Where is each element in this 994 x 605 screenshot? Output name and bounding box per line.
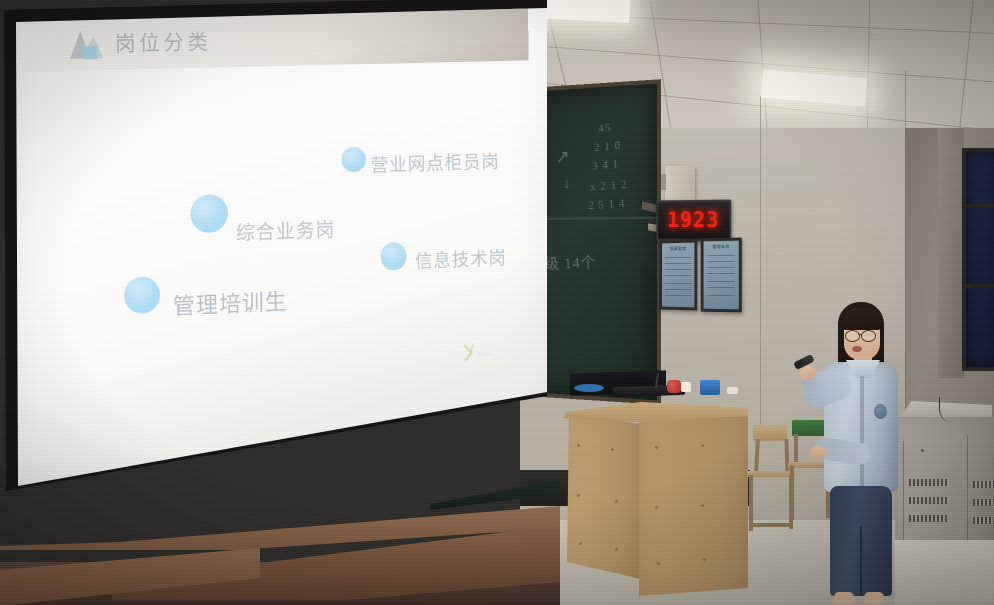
slide-corner-logo-svg: logo [462, 340, 508, 363]
green-chalkboard: 45 2 1 0 3 4 1 x 2 1 2 2 5 1 4 6级 14个 ↗ … [527, 79, 661, 405]
shirt-placket [860, 376, 864, 488]
wall-notice-board-right: 管理条例 [701, 238, 742, 313]
slide-bullet-label-1: 营业网点柜员岗 [370, 147, 499, 177]
classroom-photo-scene: 45 2 1 0 3 4 1 x 2 1 2 2 5 1 4 6级 14个 ↗ … [0, 0, 994, 605]
lectern-front-panel [639, 410, 748, 596]
chalk-note: 2 5 1 4 [588, 197, 626, 212]
chalk-arrow: ↗ [555, 146, 572, 169]
wall-notice-board-left: 规章制度 [659, 239, 697, 310]
chalk-note: 45 [598, 122, 612, 136]
cabinet-cable [939, 397, 962, 423]
led-wall-clock: 1923 [656, 200, 731, 242]
eyeglasses-right-lens [861, 330, 876, 342]
night-window [962, 148, 994, 371]
mountain-logo-svg [64, 24, 110, 65]
left-foot [834, 592, 854, 604]
wall-speaker [665, 166, 695, 204]
chalk-arrow: ↓ [563, 175, 573, 194]
chalk-note: 3 4 1 [592, 158, 620, 173]
eyeglasses-bridge [858, 334, 862, 335]
slide-bullet-label-4: 管理培训生 [172, 283, 287, 321]
small-white-item [727, 387, 738, 394]
clock-time: 1923 [667, 210, 719, 231]
right-foot [864, 592, 884, 604]
mouth [852, 346, 862, 352]
ceiling-light-2 [761, 70, 867, 107]
slide-heading: 岗位分类 [115, 26, 212, 58]
mountain-logo [64, 24, 110, 65]
female-presenter [800, 300, 920, 605]
lectern-side-panel [563, 414, 641, 579]
blue-box [700, 380, 720, 395]
projected-slide: 岗位分类 营业网点柜员岗 综合业务岗 信息技术岗 管理培训生 logo [0, 0, 548, 492]
slide-bullet-dot-4 [124, 276, 161, 314]
folded-hand [810, 446, 826, 460]
slide-bullet-dot-1 [341, 146, 366, 172]
white-object [681, 382, 691, 392]
svg-text:logo: logo [477, 351, 489, 358]
door-frame [938, 128, 964, 378]
blue-disc [574, 384, 604, 392]
chalk-note: x 2 1 2 [590, 178, 628, 193]
trouser-seam [860, 526, 862, 596]
slide-bullet-dot-2 [190, 194, 228, 234]
shirt-badge [874, 404, 887, 419]
slide-corner-logo: logo [462, 340, 508, 363]
fringe [841, 308, 883, 330]
slide-bullet-dot-3 [380, 242, 406, 271]
red-object [667, 380, 681, 393]
eyeglasses-left-lens [845, 330, 860, 342]
wooden-lectern [563, 400, 748, 600]
chalk-note: 2 1 0 [594, 139, 622, 154]
wooden-chair[interactable] [745, 425, 793, 535]
slide-bullet-label-3: 信息技术岗 [415, 244, 507, 274]
slide-bullet-label-2: 综合业务岗 [236, 214, 336, 246]
